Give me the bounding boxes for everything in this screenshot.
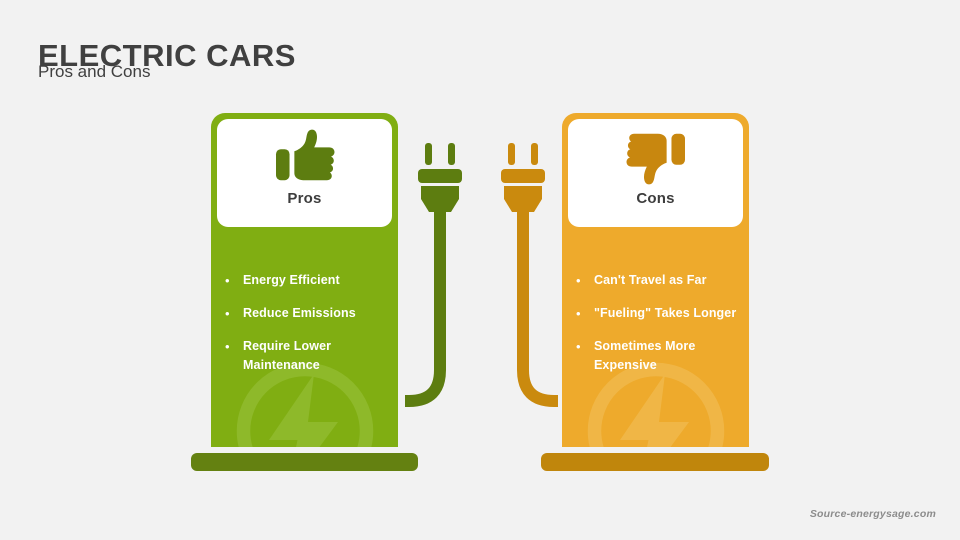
list-item[interactable]: • Energy Efficient bbox=[221, 271, 392, 290]
pros-header-card: Pros bbox=[217, 119, 392, 227]
bullet-glyph: • bbox=[572, 337, 594, 356]
list-item[interactable]: • Reduce Emissions bbox=[221, 304, 392, 323]
list-item-label: Reduce Emissions bbox=[243, 304, 356, 323]
list-item-label: Energy Efficient bbox=[243, 271, 340, 290]
slide-canvas: ELECTRIC CARS Pros and Cons Pros • Energ… bbox=[0, 0, 960, 540]
list-item-label: Require Lower Maintenance bbox=[243, 337, 392, 375]
list-item-label: "Fueling" Takes Longer bbox=[594, 304, 736, 323]
orange-plug-icon bbox=[501, 143, 545, 212]
green-plug-icon bbox=[418, 143, 462, 212]
page-subtitle: Pros and Cons bbox=[38, 62, 150, 82]
cons-bullet-list: • Can't Travel as Far • "Fueling" Takes … bbox=[562, 271, 749, 389]
pros-station-panel[interactable]: Pros • Energy Efficient • Reduce Emissio… bbox=[211, 113, 398, 447]
list-item-label: Can't Travel as Far bbox=[594, 271, 707, 290]
cons-station-base bbox=[541, 453, 769, 471]
bullet-glyph: • bbox=[572, 304, 594, 323]
cons-label: Cons bbox=[636, 190, 674, 207]
cons-header-card: Cons bbox=[568, 119, 743, 227]
list-item[interactable]: • "Fueling" Takes Longer bbox=[572, 304, 743, 323]
list-item[interactable]: • Sometimes More Expensive bbox=[572, 337, 743, 375]
list-item[interactable]: • Require Lower Maintenance bbox=[221, 337, 392, 375]
bullet-glyph: • bbox=[221, 304, 243, 323]
thumbs-down-icon bbox=[625, 128, 687, 186]
cons-station-panel[interactable]: Cons • Can't Travel as Far • "Fueling" T… bbox=[562, 113, 749, 447]
pros-label: Pros bbox=[287, 190, 321, 207]
bullet-glyph: • bbox=[572, 271, 594, 290]
green-cable bbox=[405, 212, 440, 401]
bullet-glyph: • bbox=[221, 337, 243, 356]
source-attribution: Source-energysage.com bbox=[810, 508, 936, 520]
thumbs-up-icon bbox=[274, 128, 336, 186]
orange-cable bbox=[523, 212, 558, 401]
bullet-glyph: • bbox=[221, 271, 243, 290]
pros-station-base bbox=[191, 453, 418, 471]
pros-bullet-list: • Energy Efficient • Reduce Emissions • … bbox=[211, 271, 398, 389]
list-item[interactable]: • Can't Travel as Far bbox=[572, 271, 743, 290]
list-item-label: Sometimes More Expensive bbox=[594, 337, 743, 375]
